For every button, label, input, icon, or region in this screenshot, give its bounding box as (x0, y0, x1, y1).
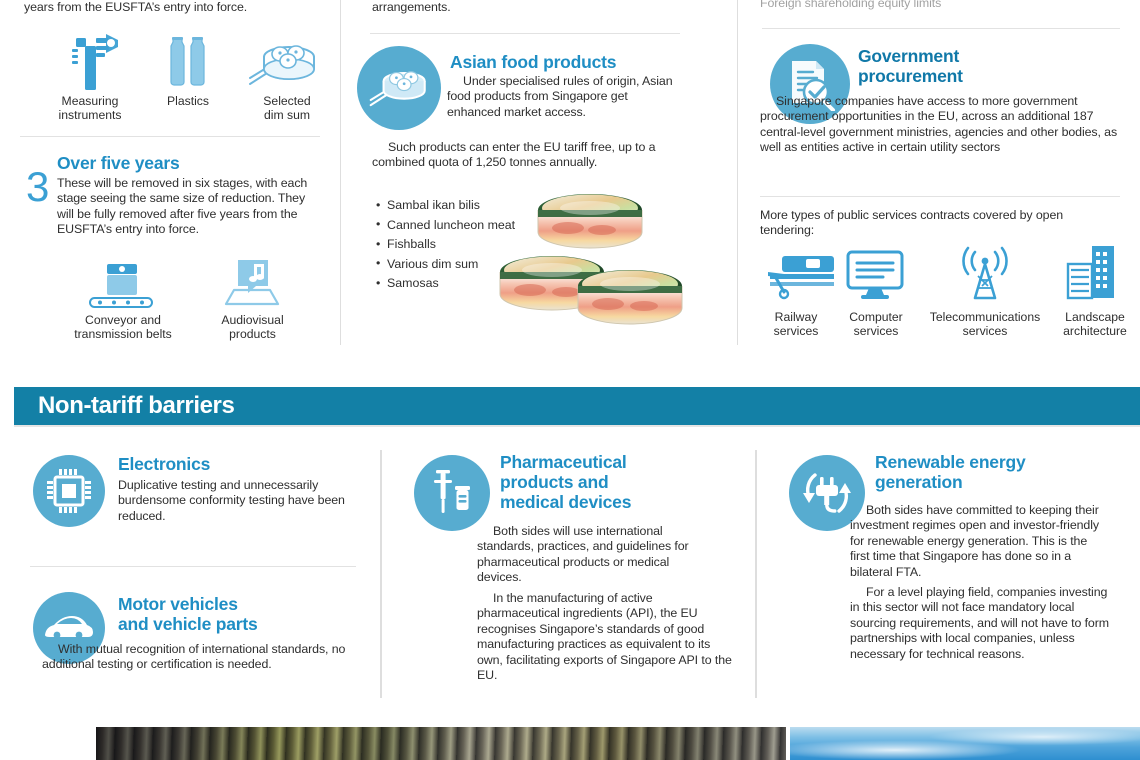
caliper-label-line1: Measuring (20, 94, 160, 108)
government-procurement-body: Singapore companies have access to more … (760, 94, 1120, 156)
plastic-bottles-icon (160, 34, 216, 90)
renewable-energy-heading: Renewable energy generation (875, 452, 1125, 492)
middle-section-divider (370, 33, 680, 34)
landscape-label-line2: architecture (1050, 324, 1140, 338)
electronics-body: Duplicative testing and unnecessarily bu… (118, 478, 358, 524)
telecommunications-services-label: Telecommunications services (915, 310, 1055, 339)
conveyor-belt-icon (84, 262, 158, 310)
lower-divider-left (380, 450, 382, 698)
motor-heading-line2: and vehicle parts (118, 614, 368, 634)
electronics-heading: Electronics (118, 454, 358, 474)
telecom-label-line1: Telecommunications (915, 310, 1055, 324)
landscape-label-line1: Landscape (1050, 310, 1140, 324)
motor-vehicles-heading: Motor vehicles and vehicle parts (118, 594, 368, 634)
audiovisual-label-line1: Audiovisual (200, 313, 305, 327)
step-body: These will be removed in six stages, wit… (57, 176, 320, 238)
column-divider-right (737, 0, 738, 345)
railway-label-line1: Railway (752, 310, 840, 324)
left-top-icon-row: Measuring instruments Plastics (20, 32, 332, 127)
right-section-divider-top (762, 28, 1120, 29)
pharmaceutical-para1: Both sides will use international standa… (477, 524, 699, 586)
syringe-vial-icon (427, 468, 477, 518)
lower-divider-right (755, 450, 757, 698)
right-top-fragment: Foreign shareholding equity limits (760, 0, 1080, 11)
caliper-icon (60, 32, 122, 90)
pharma-heading-line2: products and (500, 472, 750, 492)
electronics-badge (33, 455, 105, 527)
dim-sum-basket-icon (369, 66, 429, 110)
pharmaceutical-para2: In the manufacturing of active pharmaceu… (477, 591, 733, 683)
conveyor-label: Conveyor and transmission belts (48, 313, 198, 342)
renewable-energy-para1: Both sides have committed to keeping the… (850, 503, 1105, 580)
canned-luncheon-meat-tins (490, 188, 690, 338)
infographic-canvas: years from the EUSFTA’s entry into force… (0, 0, 1140, 760)
railway-services-label: Railway services (752, 310, 840, 339)
electronics-divider (30, 566, 356, 567)
car-icon (43, 611, 95, 645)
motor-vehicles-body: With mutual recognition of international… (42, 642, 357, 673)
asian-food-heading: Asian food products (450, 52, 690, 72)
plastics-label: Plastics (148, 94, 228, 108)
computer-services-label: Computer services (833, 310, 919, 339)
renewable-heading-line2: generation (875, 472, 1125, 492)
pharma-heading-line1: Pharmaceutical (500, 452, 750, 472)
asian-food-para2: Such products can enter the EU tariff fr… (372, 140, 672, 171)
railway-label-line2: services (752, 324, 840, 338)
asian-food-badge (357, 46, 441, 130)
pharmaceutical-heading: Pharmaceutical products and medical devi… (500, 452, 750, 512)
public-services-intro: More types of public services contracts … (760, 208, 1090, 239)
plug-recycle-icon (799, 465, 855, 521)
left-top-fragment: years from the EUSFTA’s entry into force… (24, 0, 324, 15)
factory-production-line-photo (96, 727, 786, 760)
dim-sum-label-line2: dim sum (242, 108, 332, 122)
column-divider-left (340, 0, 341, 345)
monitor-icon (845, 250, 905, 302)
microchip-icon (45, 467, 93, 515)
buildings-icon (1062, 244, 1120, 302)
government-procurement-heading: Government procurement (858, 46, 1088, 86)
pharmaceutical-badge (414, 455, 490, 531)
right-section-divider-mid (760, 196, 1120, 197)
renewable-heading-line1: Renewable energy (875, 452, 1125, 472)
landscape-architecture-label: Landscape architecture (1050, 310, 1140, 339)
antenna-tower-icon (955, 246, 1015, 302)
audiovisual-label-line2: products (200, 327, 305, 341)
sky-clouds-photo (790, 727, 1140, 760)
computer-label-line1: Computer (833, 310, 919, 324)
gov-heading-line1: Government (858, 46, 1088, 66)
dim-sum-label: Selected dim sum (242, 94, 332, 123)
audiovisual-icon (224, 258, 280, 310)
asian-food-para1: Under specialised rules of origin, Asian… (447, 74, 675, 120)
conveyor-label-line1: Conveyor and (48, 313, 198, 327)
banner-label: Non-tariff barriers (14, 392, 234, 420)
dim-sum-label-line1: Selected (242, 94, 332, 108)
computer-label-line2: services (833, 324, 919, 338)
telecom-label-line2: services (915, 324, 1055, 338)
left-section-divider (20, 136, 320, 137)
renewable-energy-para2: For a level playing field, companies inv… (850, 585, 1112, 662)
caliper-label-line2: instruments (20, 108, 160, 122)
audiovisual-label: Audiovisual products (200, 313, 305, 342)
plastics-label-line1: Plastics (148, 94, 228, 108)
non-tariff-barriers-banner: Non-tariff barriers (14, 387, 1140, 425)
gov-heading-line2: procurement (858, 66, 1088, 86)
dim-sum-basket-icon (248, 40, 318, 90)
step-heading: Over five years (57, 153, 317, 173)
pharma-heading-line3: medical devices (500, 492, 750, 512)
caliper-label: Measuring instruments (20, 94, 160, 123)
conveyor-label-line2: transmission belts (48, 327, 198, 341)
middle-top-fragment: arrangements. (372, 0, 672, 15)
train-icon (762, 250, 836, 302)
step-number: 3 (26, 166, 49, 208)
motor-heading-line1: Motor vehicles (118, 594, 368, 614)
